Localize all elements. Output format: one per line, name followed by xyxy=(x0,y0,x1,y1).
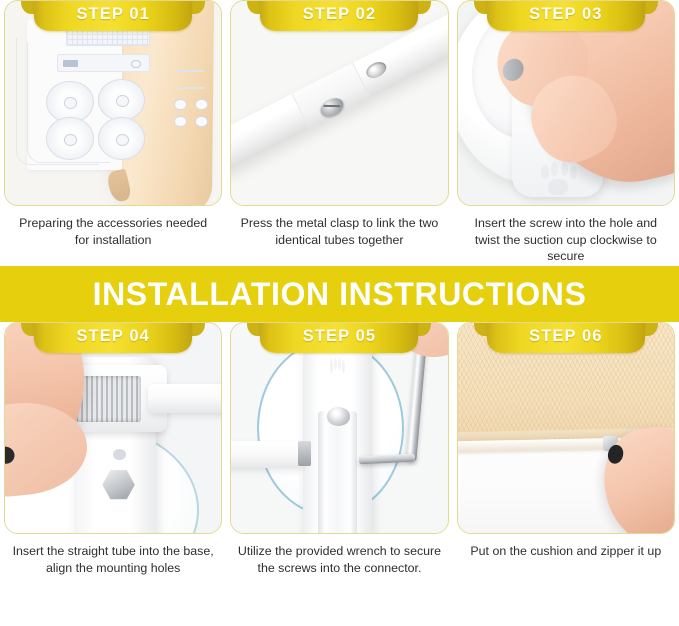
step-photo-frame-03: STEP 03 xyxy=(457,0,675,206)
step-badge-04: STEP 04 xyxy=(34,323,192,353)
fingernail-shape xyxy=(5,445,17,465)
step-caption-06: Put on the cushion and zipper it up xyxy=(464,543,668,560)
small-label-part xyxy=(176,87,204,89)
paw-print-emboss-icon xyxy=(330,358,345,380)
screws-group-part xyxy=(174,99,209,128)
installation-instructions-page: STEP 01 Preparing the accessories needed… xyxy=(0,0,679,626)
step-badge-label: STEP 04 xyxy=(76,328,149,348)
wrench-tighten-photo xyxy=(231,323,447,533)
fingernail-shape xyxy=(499,54,528,85)
step-card-06: STEP 06 Put on the cushion and zipper it… xyxy=(453,322,679,593)
finger-ring xyxy=(5,323,9,351)
straight-tube xyxy=(148,384,222,413)
step-badge-label: STEP 05 xyxy=(303,328,376,348)
tube-hole xyxy=(364,59,389,81)
mounting-hole xyxy=(113,449,126,460)
paw-print-emboss-icon xyxy=(539,162,581,194)
tube-nut xyxy=(298,441,311,466)
step-photo-frame-06: STEP 06 xyxy=(457,322,675,534)
step-photo-frame-01: STEP 01 xyxy=(4,0,222,206)
step-badge-06: STEP 06 xyxy=(487,323,645,353)
step-badge-label: STEP 02 xyxy=(303,6,376,26)
cushion-zipper-photo xyxy=(458,323,674,533)
step-caption-05: Utilize the provided wrench to secure th… xyxy=(237,543,441,576)
step-badge-02: STEP 02 xyxy=(260,1,418,31)
screw-head xyxy=(327,407,351,426)
ribbon-badge-shape: STEP 06 xyxy=(487,323,645,353)
straight-tube xyxy=(231,441,305,468)
banner-title: INSTALLATION INSTRUCTIONS xyxy=(93,278,587,310)
small-label-part xyxy=(176,70,204,72)
step-badge-label: STEP 03 xyxy=(529,6,602,26)
step-photo-frame-02: STEP 02 xyxy=(230,0,448,206)
step-photo-frame-04: STEP 04 xyxy=(4,322,222,534)
tube-into-base-photo xyxy=(5,323,221,533)
ribbon-badge-shape: STEP 01 xyxy=(34,1,192,31)
step-card-04: STEP 04 Insert the straight tube into th… xyxy=(0,322,226,593)
step-card-03: STEP 03 Insert the screw into the hole a… xyxy=(453,0,679,266)
step-badge-03: STEP 03 xyxy=(487,1,645,31)
tube-clasp-photo xyxy=(231,1,447,205)
step-badge-05: STEP 05 xyxy=(260,323,418,353)
step-badge-label: STEP 01 xyxy=(76,6,149,26)
connector-groove xyxy=(318,411,357,533)
threaded-insert xyxy=(76,376,141,422)
suction-cup-screw-photo xyxy=(458,1,674,205)
bent-rod-part xyxy=(27,42,110,163)
step-card-02: STEP 02 Press the metal clasp to link th… xyxy=(226,0,452,266)
step-card-05: STEP 05 Utilize the provided wrench to s… xyxy=(226,322,452,593)
steps-row-top: STEP 01 Preparing the accessories needed… xyxy=(0,0,679,266)
step-caption-02: Press the metal clasp to link the two id… xyxy=(237,215,441,248)
installation-instructions-banner: INSTALLATION INSTRUCTIONS xyxy=(0,266,679,322)
ribbon-badge-shape: STEP 03 xyxy=(487,1,645,31)
step-badge-label: STEP 06 xyxy=(529,328,602,348)
step-caption-03: Insert the screw into the hole and twist… xyxy=(464,215,668,265)
step-badge-01: STEP 01 xyxy=(34,1,192,31)
steps-row-bottom: STEP 04 Insert the straight tube into th… xyxy=(0,322,679,593)
step-caption-01: Preparing the accessories needed for ins… xyxy=(11,215,215,248)
ribbon-badge-shape: STEP 04 xyxy=(34,323,192,353)
step-caption-04: Insert the straight tube into the base, … xyxy=(11,543,215,576)
step-photo-frame-05: STEP 05 xyxy=(230,322,448,534)
ribbon-badge-shape: STEP 05 xyxy=(260,323,418,353)
step-card-01: STEP 01 Preparing the accessories needed… xyxy=(0,0,226,266)
ribbon-badge-shape: STEP 02 xyxy=(260,1,418,31)
parts-layout-photo xyxy=(5,1,221,205)
